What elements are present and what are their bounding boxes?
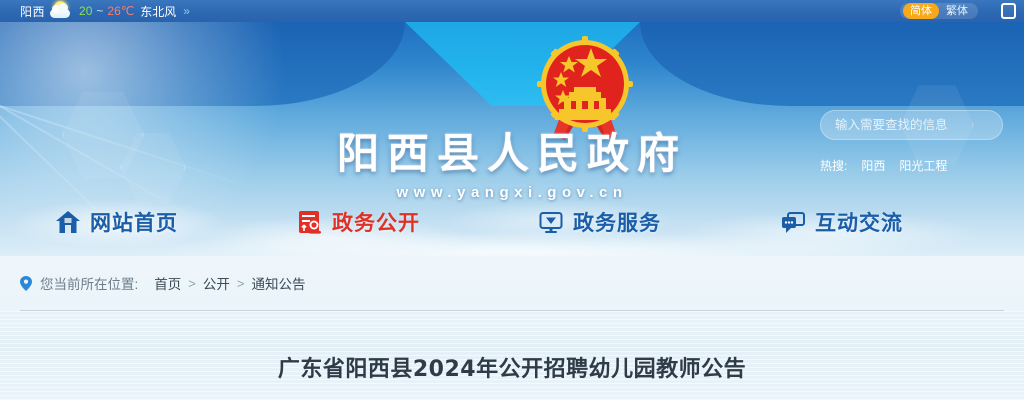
nav-item-label: 网站首页	[90, 207, 178, 237]
lang-traditional-button[interactable]: 繁体	[939, 3, 975, 19]
search-input[interactable]	[821, 118, 1002, 132]
weather-city: 阳西	[20, 3, 45, 20]
search-box[interactable]	[820, 110, 1003, 140]
nav-item-government-services[interactable]: 政务服务	[538, 196, 661, 248]
weather-high: 26℃	[107, 4, 134, 18]
breadcrumb-item-home[interactable]: 首页	[154, 273, 181, 293]
banner-block-left	[0, 22, 405, 106]
edge-widget-box[interactable]	[1001, 3, 1016, 19]
sun-cloud-icon	[49, 1, 75, 21]
top-utility-bar: 阳西 20 ~ 26℃ 东北风 » 简体 繁体	[0, 0, 1024, 22]
breadcrumb-separator: >	[237, 276, 245, 291]
weather-more-icon[interactable]: »	[183, 4, 190, 18]
main-nav: 网站首页 政务公开	[0, 196, 1024, 248]
language-toggle[interactable]: 简体 繁体	[900, 3, 978, 19]
document-stamp-icon	[297, 209, 323, 235]
weather-low: 20	[79, 4, 92, 18]
weather-range-separator: ~	[96, 4, 103, 18]
breadcrumb-separator: >	[188, 276, 196, 291]
hot-search-label: 热搜:	[820, 157, 847, 174]
nav-item-label: 互动交流	[815, 207, 903, 237]
breadcrumb-label: 您当前所在位置:	[40, 273, 138, 293]
nav-item-interaction[interactable]: 互动交流	[780, 196, 903, 248]
service-screen-icon	[538, 209, 564, 235]
hot-search-tag-1[interactable]: 阳西	[861, 157, 885, 174]
nav-item-label: 政务公开	[332, 207, 420, 237]
breadcrumb-item-notice[interactable]: 通知公告	[251, 273, 305, 293]
nav-item-label: 政务服务	[573, 207, 661, 237]
nav-item-government-affairs[interactable]: 政务公开	[297, 196, 420, 248]
page-title: 广东省阳西县2024年公开招聘幼儿园教师公告	[0, 351, 1024, 383]
location-pin-icon	[20, 276, 32, 291]
breadcrumb: 您当前所在位置: 首页 > 公开 > 通知公告	[40, 273, 305, 293]
article-area: 广东省阳西县2024年公开招聘幼儿园教师公告	[0, 311, 1024, 400]
hot-search-tag-2[interactable]: 阳光工程	[899, 157, 947, 174]
breadcrumb-bar: 您当前所在位置: 首页 > 公开 > 通知公告	[0, 256, 1024, 310]
china-national-emblem	[531, 32, 639, 142]
home-icon	[55, 209, 81, 235]
lang-simplified-button[interactable]: 简体	[903, 3, 939, 19]
nav-item-home[interactable]: 网站首页	[55, 196, 178, 248]
breadcrumb-item-open[interactable]: 公开	[203, 273, 230, 293]
weather-wind: 东北风	[140, 3, 176, 20]
banner-block-right	[640, 22, 1024, 106]
hot-search: 热搜: 阳西 阳光工程	[820, 156, 1020, 174]
weather-widget[interactable]: 阳西 20 ~ 26℃ 东北风 »	[20, 0, 190, 22]
chat-bubble-icon	[780, 209, 806, 235]
page-root: 阳西 20 ~ 26℃ 东北风 » 简体 繁体	[0, 0, 1024, 400]
